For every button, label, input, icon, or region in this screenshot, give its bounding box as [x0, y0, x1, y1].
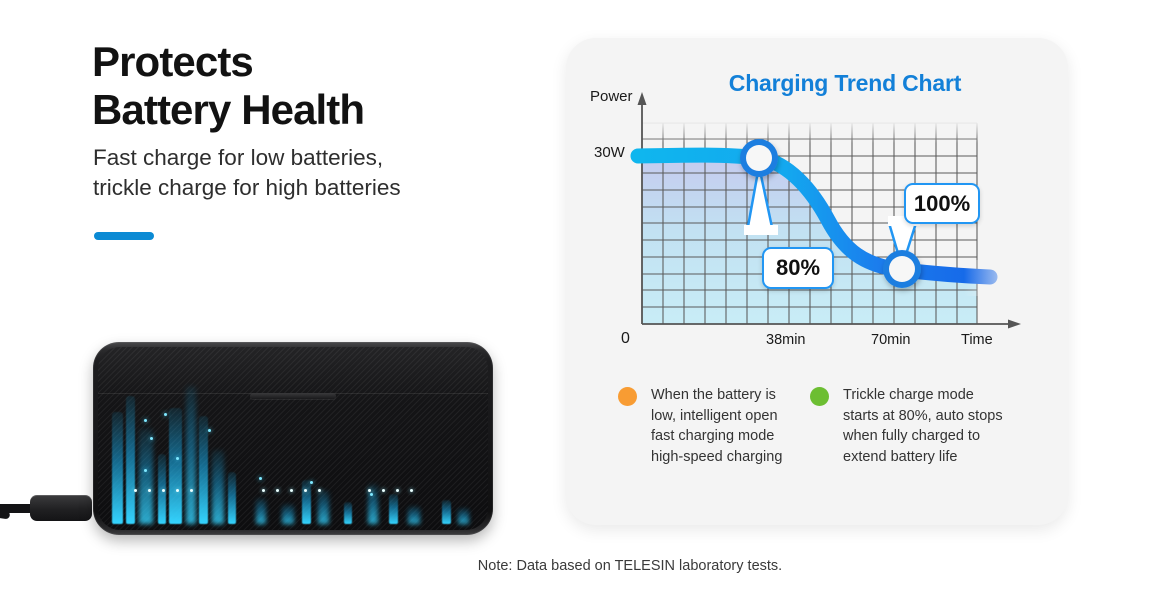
- legend-item-fast-charge: When the battery is low, intelligent ope…: [618, 385, 803, 467]
- legend-item-trickle-charge: Trickle charge mode starts at 80%, auto …: [810, 385, 1010, 467]
- callout-100: 100%: [904, 183, 980, 224]
- pointer-join-80: [744, 225, 778, 235]
- promo-banner: Protects Battery Health Fast charge for …: [0, 0, 1170, 600]
- legend-dot-orange-icon: [618, 387, 637, 406]
- legend-item-label: When the battery is low, intelligent ope…: [651, 385, 782, 467]
- legend-dot-green-icon: [810, 387, 829, 406]
- callout-80: 80%: [762, 247, 834, 289]
- legend-item-label: Trickle charge mode starts at 80%, auto …: [843, 385, 1003, 467]
- page-subtitle: Fast charge for low batteries, trickle c…: [93, 143, 401, 203]
- data-point-100[interactable]: [883, 250, 921, 288]
- footnote: Note: Data based on TELESIN laboratory t…: [0, 558, 1170, 574]
- device-led-visualizer: [106, 397, 480, 524]
- charging-trend-plot: [566, 38, 1068, 378]
- data-point-80[interactable]: [740, 139, 778, 177]
- charging-plug: [30, 495, 92, 521]
- product-image-power-bank: [0, 332, 520, 562]
- device-front-panel: [98, 347, 488, 530]
- device-body: [93, 342, 493, 535]
- accent-divider: [94, 232, 154, 240]
- curve-right-fade: [964, 260, 1020, 296]
- page-title: Protects Battery Health: [92, 38, 364, 134]
- grid-top-fade: [640, 121, 980, 143]
